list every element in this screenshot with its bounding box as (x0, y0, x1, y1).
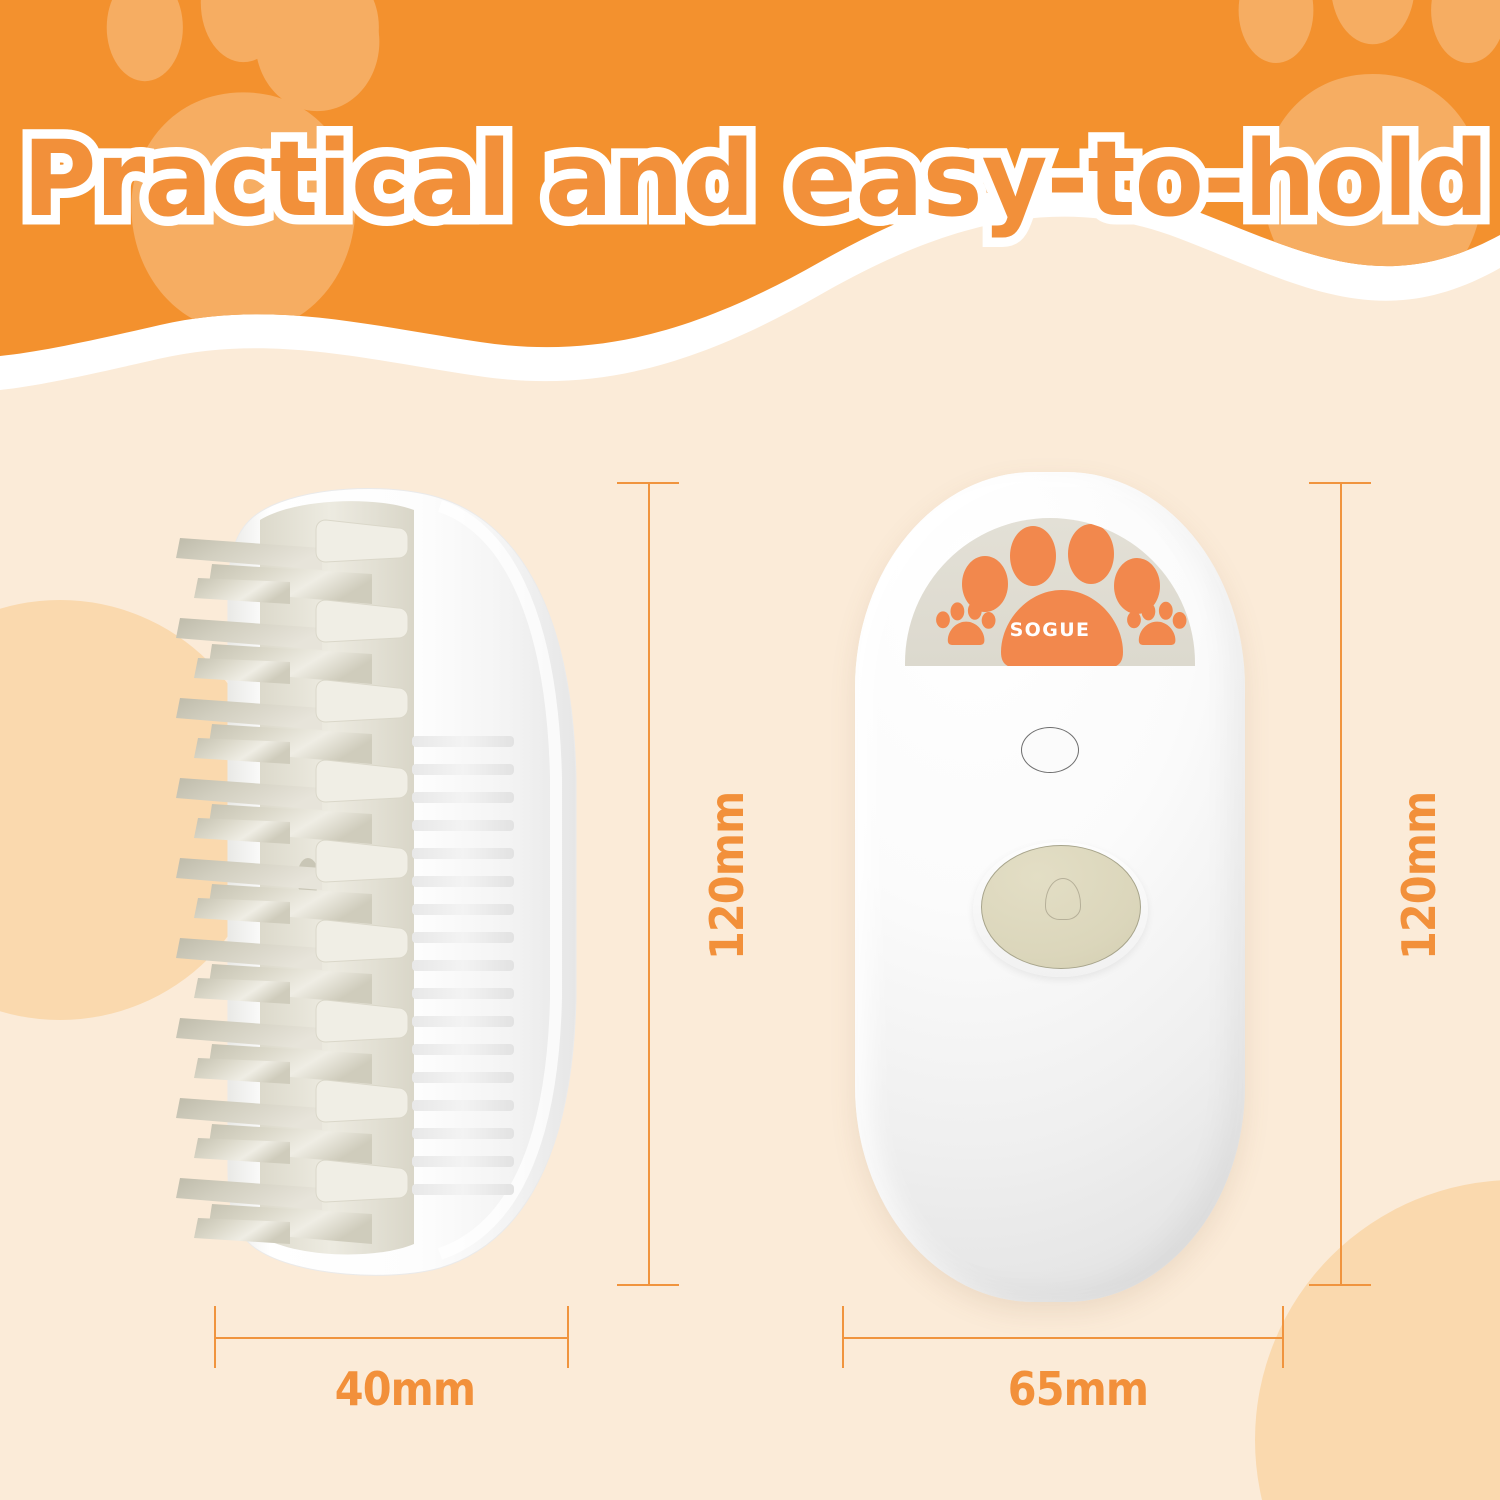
dim-line (842, 1337, 1284, 1339)
dim-tick-left (214, 1306, 216, 1368)
dim-tick-bottom (617, 1284, 679, 1286)
dim-label-right-width: 65mm (1008, 1362, 1148, 1416)
infographic-canvas: Practical and easy-to-hold size (0, 0, 1500, 1500)
dim-line (1340, 482, 1342, 1284)
page-title: Practical and easy-to-hold size (23, 122, 1478, 236)
brush-bristles-tips (194, 578, 290, 1244)
paw-logo-icon (962, 524, 1160, 666)
brush-bristles-back (176, 538, 322, 1210)
dim-label-left-width: 40mm (335, 1362, 475, 1416)
dim-line (648, 482, 650, 1284)
dim-label-right-height: 120mm (1392, 792, 1446, 960)
dim-tick-bottom (1309, 1284, 1371, 1286)
dim-tick-left (842, 1306, 844, 1368)
dim-tick-right (567, 1306, 569, 1368)
dim-line (214, 1337, 569, 1339)
product-image-brush-back: SOGUE (855, 472, 1245, 1302)
dim-tick-top (1309, 482, 1371, 484)
indicator-light[interactable] (1021, 727, 1079, 773)
dim-label-left-height: 120mm (700, 792, 754, 960)
brand-name: SOGUE (905, 619, 1195, 641)
dim-tick-top (617, 482, 679, 484)
background-blob-right (1255, 1180, 1500, 1500)
brush-bristles-front (316, 520, 408, 1202)
product-image-brush-side (140, 478, 590, 1298)
dim-tick-right (1282, 1306, 1284, 1368)
